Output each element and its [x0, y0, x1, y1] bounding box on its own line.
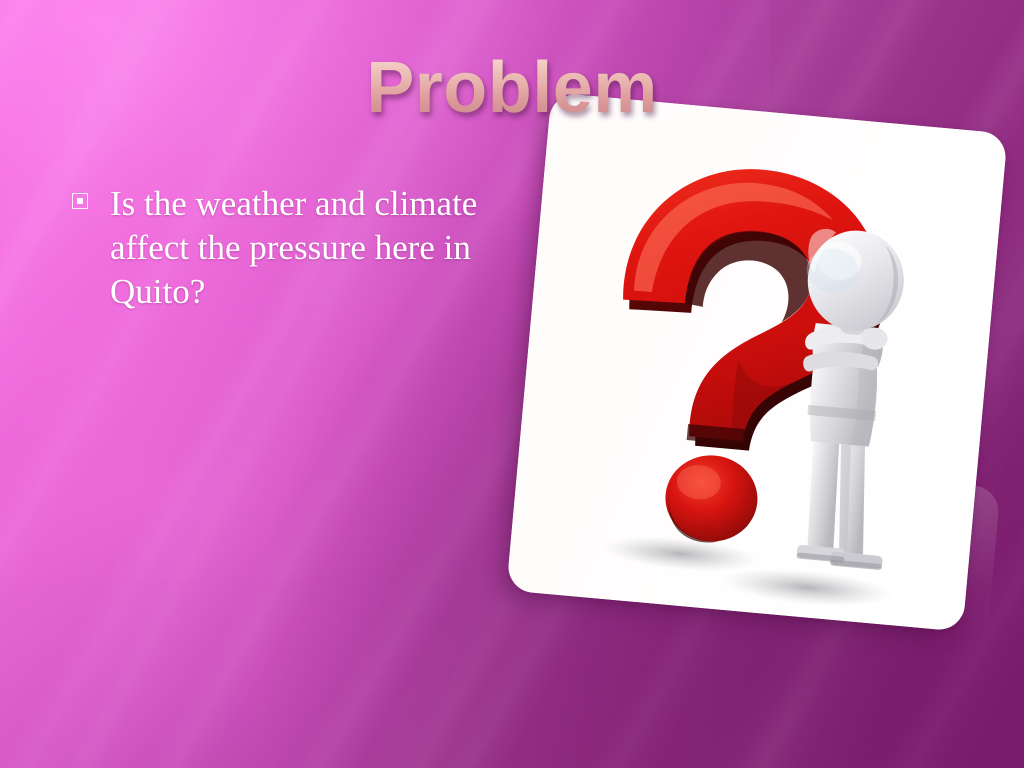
presentation-slide: Problem Is the weather and climate affec…: [0, 0, 1024, 768]
slide-title: Problem: [0, 52, 1024, 124]
bullet-text: Is the weather and climate affect the pr…: [110, 182, 492, 314]
question-mark-with-thinking-figure-image: [506, 92, 1007, 631]
bullet-list-item: Is the weather and climate affect the pr…: [72, 182, 492, 314]
picture-card[interactable]: [506, 92, 1007, 631]
slide-body: Is the weather and climate affect the pr…: [72, 182, 492, 314]
picture-frame: [506, 92, 1007, 631]
square-bullet-icon: [72, 193, 88, 209]
